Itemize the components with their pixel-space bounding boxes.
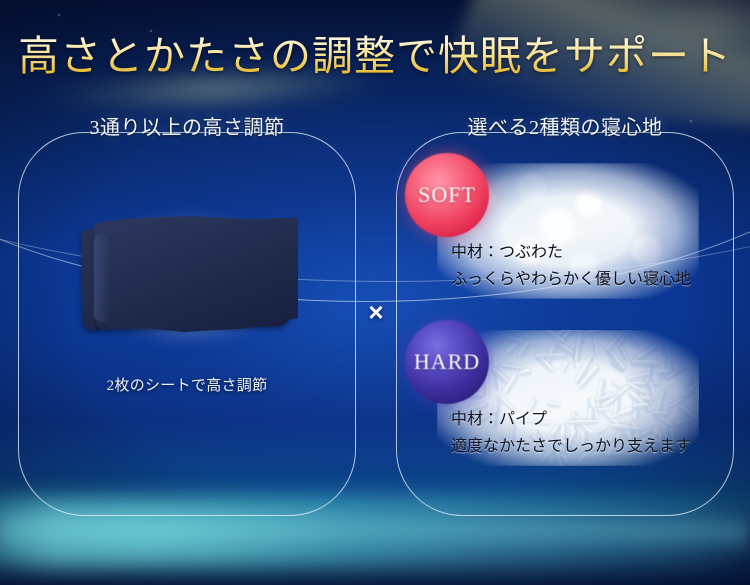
teal-glow-band-inner bbox=[0, 512, 750, 556]
pipe-piece bbox=[664, 331, 684, 343]
hard-material-line: 中材：パイプ bbox=[451, 407, 691, 433]
soft-description: 中材：つぶわた ふっくらやわらかく優しい寝心地 bbox=[451, 240, 691, 293]
promo-banner: 高さとかたさの調整で快眠をサポート 3通り以上の高さ調節 選べる2種類の寝心地 … bbox=[0, 0, 750, 585]
soft-badge: SOFT bbox=[405, 153, 489, 237]
pipe-piece bbox=[595, 379, 605, 409]
hard-description: 中材：パイプ 適度なかたさでしっかり支えます bbox=[451, 407, 691, 460]
pipe-piece bbox=[519, 368, 531, 376]
page-title: 高さとかたさの調整で快眠をサポート bbox=[0, 22, 750, 82]
material-card-hard: HARD 中材：パイプ 適度なかたさでしっかり支えます bbox=[437, 330, 699, 466]
pipe-piece bbox=[574, 332, 583, 363]
pipe-piece bbox=[662, 343, 671, 359]
hard-firmness-line: 適度なかたさでしっかり支えます bbox=[451, 434, 691, 460]
star-speck-icon bbox=[58, 14, 60, 16]
pipe-piece bbox=[561, 360, 571, 373]
soft-material-line: 中材：つぶわた bbox=[451, 240, 691, 266]
material-card-soft: SOFT 中材：つぶわた ふっくらやわらかく優しい寝心地 bbox=[437, 163, 699, 299]
multiply-icon: × bbox=[356, 297, 396, 328]
soft-feel-line: ふっくらやわらかく優しい寝心地 bbox=[451, 267, 691, 293]
sheet-fold-shading bbox=[94, 234, 110, 322]
left-panel-heading: 3通り以上の高さ調節 bbox=[18, 111, 356, 140]
hard-badge-label: HARD bbox=[414, 349, 480, 375]
stacked-sheets-illustration bbox=[80, 212, 300, 344]
soft-badge-label: SOFT bbox=[418, 182, 476, 208]
right-panel-heading: 選べる2種類の寝心地 bbox=[396, 111, 734, 140]
pipe-piece bbox=[490, 355, 497, 368]
pipe-piece bbox=[631, 360, 661, 367]
pipe-piece bbox=[535, 352, 566, 359]
hard-badge: HARD bbox=[405, 320, 489, 404]
left-panel-caption: 2枚のシートで高さ調節 bbox=[18, 374, 356, 395]
sheet-upper bbox=[94, 216, 298, 332]
